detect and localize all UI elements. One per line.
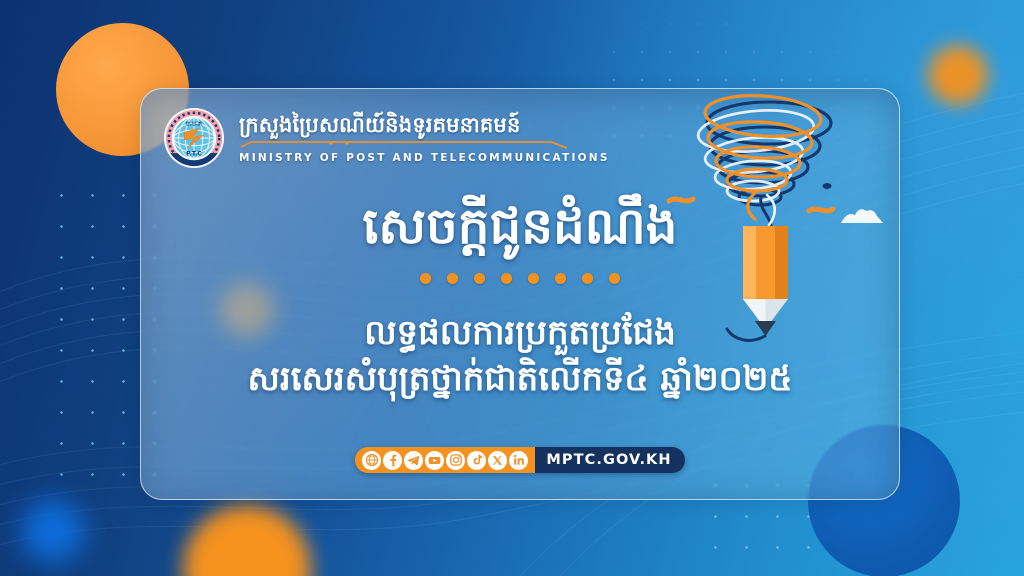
dot-divider <box>141 273 899 284</box>
ministry-name-english: MINISTRY OF POST AND TELECOMMUNICATIONS <box>239 152 610 164</box>
subtitle-line-2: សរសេរសំបុត្រថ្នាក់ជាតិលើកទី៤ ឆ្នាំ២០២៥ <box>141 357 899 403</box>
social-bar-wrap: MPTC.GOV.KH <box>141 447 899 473</box>
navy-dot <box>823 183 832 189</box>
divider-dot <box>528 273 539 284</box>
linkedin-icon[interactable] <box>509 451 528 470</box>
logo-inner-top-text: ប.ប.ត <box>186 120 202 127</box>
social-icon-group <box>355 447 535 473</box>
subtitle-block: លទ្ធផលការប្រកួតប្រជែង សរសេរសំបុត្រថ្នាក់… <box>141 311 899 402</box>
website-url[interactable]: MPTC.GOV.KH <box>535 447 684 473</box>
youtube-icon[interactable] <box>425 451 444 470</box>
orange-glow-top-right <box>928 45 988 105</box>
mptc-emblem: ប.ប.ត P.T.C <box>163 107 225 169</box>
blue-glow-bottom-left <box>22 500 84 562</box>
instagram-icon[interactable] <box>446 451 465 470</box>
orange-rule <box>239 141 610 149</box>
divider-dot <box>447 273 458 284</box>
social-bar: MPTC.GOV.KH <box>355 447 684 473</box>
card-header: ប.ប.ត P.T.C ក្រសួងប្រៃសណីយ៍និងទូរគមនាគមន… <box>163 107 610 169</box>
divider-dot <box>474 273 485 284</box>
page-title: សេចក្តីជូនដំណឹង <box>141 197 899 256</box>
ministry-name-block: ក្រសួងប្រៃសណីយ៍និងទូរគមនាគមន៍ MINISTRY O… <box>239 112 610 164</box>
logo-inner-bottom-text: P.T.C <box>186 150 202 157</box>
divider-dot <box>420 273 431 284</box>
x-icon[interactable] <box>488 451 507 470</box>
divider-dot <box>555 273 566 284</box>
poster-canvas: ប.ប.ត P.T.C ក្រសួងប្រៃសណីយ៍និងទូរគមនាគមន… <box>0 0 1024 576</box>
divider-dot <box>501 273 512 284</box>
telegram-icon[interactable] <box>404 451 423 470</box>
divider-dot <box>609 273 620 284</box>
announcement-card: ប.ប.ត P.T.C ក្រសួងប្រៃសណីយ៍និងទូរគមនាគមន… <box>140 88 900 500</box>
facebook-icon[interactable] <box>383 451 402 470</box>
globe-icon[interactable] <box>362 451 381 470</box>
tiktok-icon[interactable] <box>467 451 486 470</box>
subtitle-line-1: លទ្ធផលការប្រកួតប្រជែង <box>141 311 899 357</box>
divider-dot <box>582 273 593 284</box>
ministry-name-khmer: ក្រសួងប្រៃសណីយ៍និងទូរគមនាគមន៍ <box>239 112 610 138</box>
